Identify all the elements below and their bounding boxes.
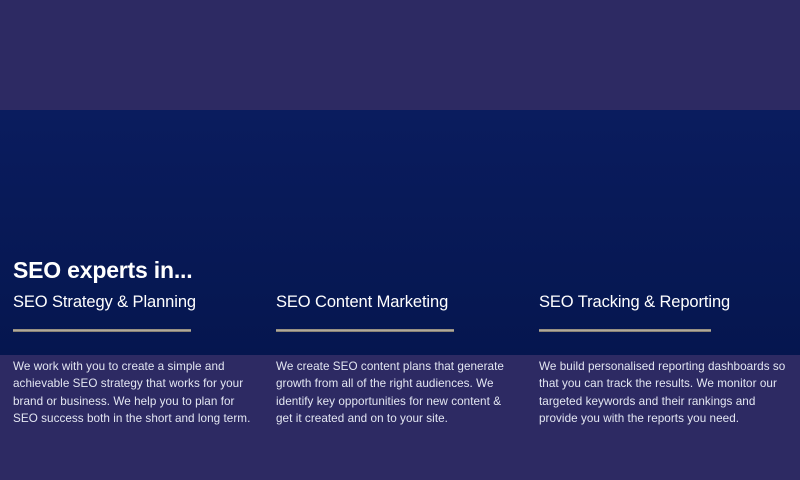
service-description: We work with you to create a simple and … xyxy=(13,358,259,428)
page-title: SEO experts in... xyxy=(13,258,192,283)
title-underline-rule xyxy=(13,329,191,332)
title-underline-rule xyxy=(539,329,711,332)
page-root: SEO experts in... SEO Strategy & Plannin… xyxy=(0,0,800,480)
service-card-seo-strategy-planning: SEO Strategy & Planning We work with you… xyxy=(0,293,263,439)
service-title: SEO Strategy & Planning xyxy=(13,293,247,313)
service-title: SEO Tracking & Reporting xyxy=(539,293,784,313)
service-title: SEO Content Marketing xyxy=(276,293,512,313)
title-underline-rule xyxy=(276,329,454,332)
service-columns: SEO Strategy & Planning We work with you… xyxy=(0,293,800,439)
service-card-seo-content-marketing: SEO Content Marketing We create SEO cont… xyxy=(263,293,528,439)
service-card-seo-tracking-reporting: SEO Tracking & Reporting We build person… xyxy=(528,293,800,439)
seo-services-panel: SEO experts in... SEO Strategy & Plannin… xyxy=(0,110,800,355)
service-description: We build personalised reporting dashboar… xyxy=(539,358,787,428)
service-description: We create SEO content plans that generat… xyxy=(276,358,518,428)
